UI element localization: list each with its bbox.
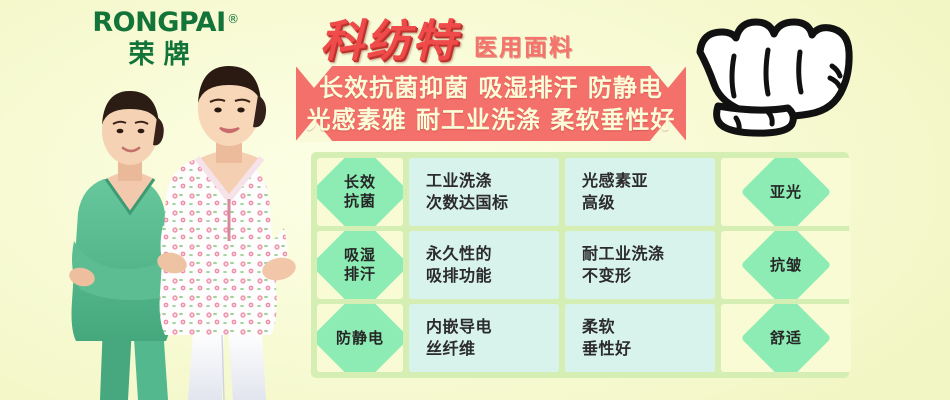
feature-label-wrinkle-resistant: 抗皱 <box>770 256 802 275</box>
plate-line-1: 耐工业洗涤 <box>582 243 715 265</box>
plate-line-1: 工业洗涤 <box>426 170 559 192</box>
feature-plate: 永久性的 吸排功能 <box>409 231 559 299</box>
feature-grid: 长效 抗菌 工业洗涤 次数达国标 光感素亚 高级 亚光 吸湿 排汗 永久性的 <box>311 152 849 378</box>
plate-line-2: 次数达国标 <box>426 192 559 214</box>
feature-plate: 内嵌导电 丝纤维 <box>409 304 559 372</box>
ribbon-line-2: 光感素雅 耐工业洗涤 柔软垂性好 <box>307 105 676 135</box>
plate-line-2: 吸排功能 <box>426 265 559 287</box>
feature-plate: 工业洗涤 次数达国标 <box>409 158 559 226</box>
headline-group: 科纺特 医用面料 <box>320 9 574 65</box>
feature-label-comfortable: 舒适 <box>770 329 802 348</box>
ribbon-line-1: 长效抗菌抑菌 吸湿排汗 防静电 <box>319 73 663 103</box>
grid-cell-r1c4: 亚光 <box>721 158 851 226</box>
promotional-banner: RONGPAI ® 荣牌 <box>0 0 950 400</box>
grid-cell-r2c4: 抗皱 <box>721 231 851 299</box>
registered-trademark-icon: ® <box>227 4 239 34</box>
grid-cell-r3c4: 舒适 <box>721 304 851 372</box>
grid-cell-r1c2: 工业洗涤 次数达国标 <box>409 158 559 226</box>
plate-line-2: 垂性好 <box>582 338 715 360</box>
plate-line-2: 不变形 <box>582 265 715 287</box>
feature-label-antibacterial: 长效 抗菌 <box>344 173 376 211</box>
grid-cell-r1c3: 光感素亚 高级 <box>565 158 715 226</box>
feature-plate: 耐工业洗涤 不变形 <box>565 231 715 299</box>
feature-ribbon: 长效抗菌抑菌 吸湿排汗 防静电 光感素雅 耐工业洗涤 柔软垂性好 <box>296 66 686 141</box>
page-title: 科纺特 <box>320 19 458 65</box>
plate-line-1: 内嵌导电 <box>426 316 559 338</box>
grid-cell-r2c3: 耐工业洗涤 不变形 <box>565 231 715 299</box>
ribbon-text-group: 长效抗菌抑菌 吸湿排汗 防静电 光感素雅 耐工业洗涤 柔软垂性好 <box>296 66 686 141</box>
feature-label-moisture-wicking: 吸湿 排汗 <box>344 246 376 284</box>
plate-line-1: 柔软 <box>582 316 715 338</box>
grid-cell-r2c1: 吸湿 排汗 <box>317 231 403 299</box>
grid-cell-r2c2: 永久性的 吸排功能 <box>409 231 559 299</box>
feature-plate: 柔软 垂性好 <box>565 304 715 372</box>
headline-subtitle: 医用面料 <box>474 35 574 65</box>
grid-cell-r3c1: 防静电 <box>317 304 403 372</box>
grid-cell-r1c1: 长效 抗菌 <box>317 158 403 226</box>
feature-plate: 光感素亚 高级 <box>565 158 715 226</box>
logo-latin-text: RONGPAI ® <box>92 8 225 38</box>
fist-icon <box>672 0 872 152</box>
logo-latin-label: RONGPAI <box>92 7 225 38</box>
plate-line-2: 丝纤维 <box>426 338 559 360</box>
grid-cell-r3c3: 柔软 垂性好 <box>565 304 715 372</box>
plate-line-2: 高级 <box>582 192 715 214</box>
plate-line-1: 永久性的 <box>426 243 559 265</box>
nurses-photo <box>0 55 310 400</box>
nurse-floral-uniform <box>155 66 298 400</box>
feature-label-matte: 亚光 <box>770 183 802 202</box>
plate-line-1: 光感素亚 <box>582 170 715 192</box>
feature-label-antistatic: 防静电 <box>336 329 384 348</box>
grid-cell-r3c2: 内嵌导电 丝纤维 <box>409 304 559 372</box>
